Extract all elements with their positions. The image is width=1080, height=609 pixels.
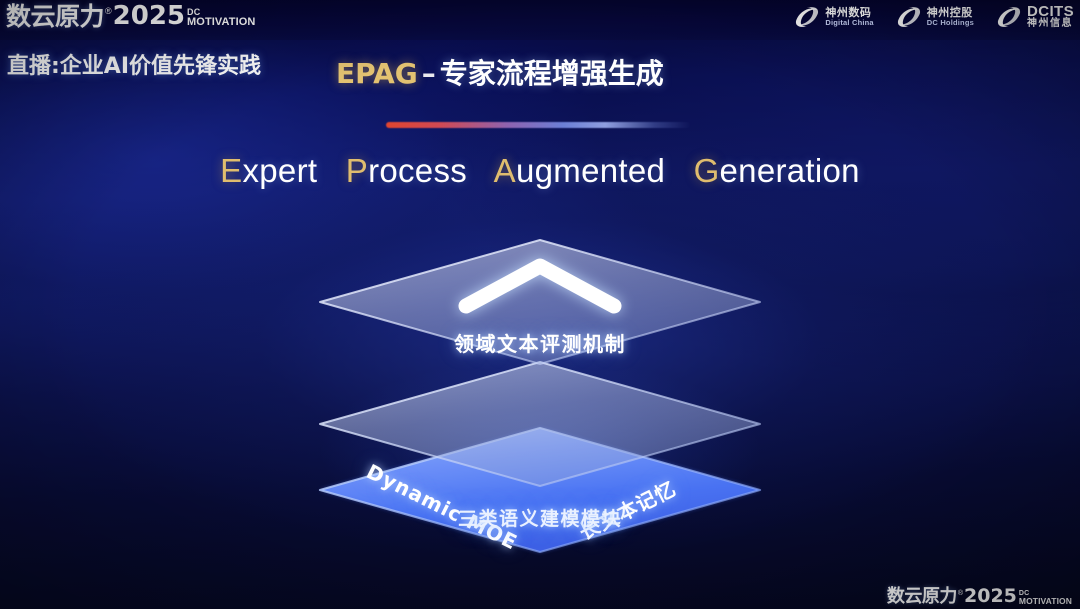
subtitle-word: Augmented <box>494 152 666 189</box>
subtitle-initial: E <box>220 152 242 189</box>
partner-name-en: DCITS <box>1027 4 1074 19</box>
partner-name-cn: 神州控股 <box>927 7 974 19</box>
watermark-motivation-label: MOTIVATION <box>1019 597 1072 606</box>
brand-name-cn: 数云原力 <box>6 4 104 29</box>
brand-motivation-label: MOTIVATION <box>187 17 255 28</box>
watermark-registered-mark: ® <box>958 590 963 597</box>
partner-name-cn: 神州信息 <box>1027 19 1074 30</box>
watermark-dc-motivation: DC MOTIVATION <box>1019 590 1072 606</box>
watermark-logo: 数云原力 ® 2025 DC MOTIVATION <box>887 587 1072 606</box>
stack-label-top: 领域文本评测机制 <box>290 328 790 357</box>
subtitle-initial: P <box>346 152 368 189</box>
swoosh-icon <box>794 6 820 28</box>
partner-logo-text: 神州控股 DC Holdings <box>927 7 974 26</box>
chevron-up-icon <box>456 254 624 316</box>
brand-year: 2025 <box>113 3 185 29</box>
subtitle-rest: eneration <box>720 152 860 189</box>
swoosh-icon <box>896 6 922 28</box>
subtitle-rest: rocess <box>368 152 467 189</box>
title-dash: – <box>418 57 440 90</box>
slide-canvas: 数云原力 ® 2025 DC MOTIVATION 直播:企业AI价值先锋实践 … <box>0 0 1080 609</box>
subtitle-rest: xpert <box>242 152 317 189</box>
partner-logo-text: 神州数码 Digital China <box>825 7 873 26</box>
partner-logo-dcits: DCITS 神州信息 <box>996 4 1074 30</box>
live-session-title: 直播:企业AI价值先锋实践 <box>7 48 261 80</box>
partner-name-cn: 神州数码 <box>825 7 873 19</box>
partner-logo-group: 神州数码 Digital China 神州控股 DC Holdings <box>794 4 1074 30</box>
subtitle-space <box>477 152 486 189</box>
partner-name-en: Digital China <box>825 19 873 27</box>
subtitle-initial: G <box>694 152 720 189</box>
brand-logo: 数云原力 ® 2025 DC MOTIVATION <box>6 3 255 29</box>
title-acronym: EPAG <box>336 57 418 90</box>
partner-logo-dc-holdings: 神州控股 DC Holdings <box>896 6 974 28</box>
swoosh-icon <box>996 6 1022 28</box>
partner-logo-digital-china: 神州数码 Digital China <box>794 6 873 28</box>
subtitle-word: Process <box>346 152 467 189</box>
subtitle-rest: ugmented <box>516 152 665 189</box>
gradient-divider <box>386 122 691 128</box>
page-title: EPAG–专家流程增强生成 <box>336 52 664 92</box>
watermark-name-cn: 数云原力 <box>887 588 957 606</box>
watermark-year: 2025 <box>964 587 1017 606</box>
title-chinese: 专家流程增强生成 <box>440 57 664 90</box>
subtitle-initial: A <box>494 152 516 189</box>
partner-logo-text: DCITS 神州信息 <box>1027 4 1074 30</box>
stack-label-bottom: 三类语义建模模块 <box>290 504 790 531</box>
layered-stack-diagram: 领域文本评测机制 Dynamic MOE 长文本记忆 三类语义建模模块 <box>290 232 790 582</box>
partner-name-en: DC Holdings <box>927 19 974 27</box>
subtitle-space <box>327 152 336 189</box>
subtitle-expansion: Expert Process Augmented Generation <box>0 152 1080 190</box>
subtitle-space <box>675 152 684 189</box>
brand-registered-mark: ® <box>105 7 112 16</box>
brand-dc-motivation: DC MOTIVATION <box>187 8 255 28</box>
subtitle-word: Expert <box>220 152 317 189</box>
subtitle-word: Generation <box>694 152 860 189</box>
